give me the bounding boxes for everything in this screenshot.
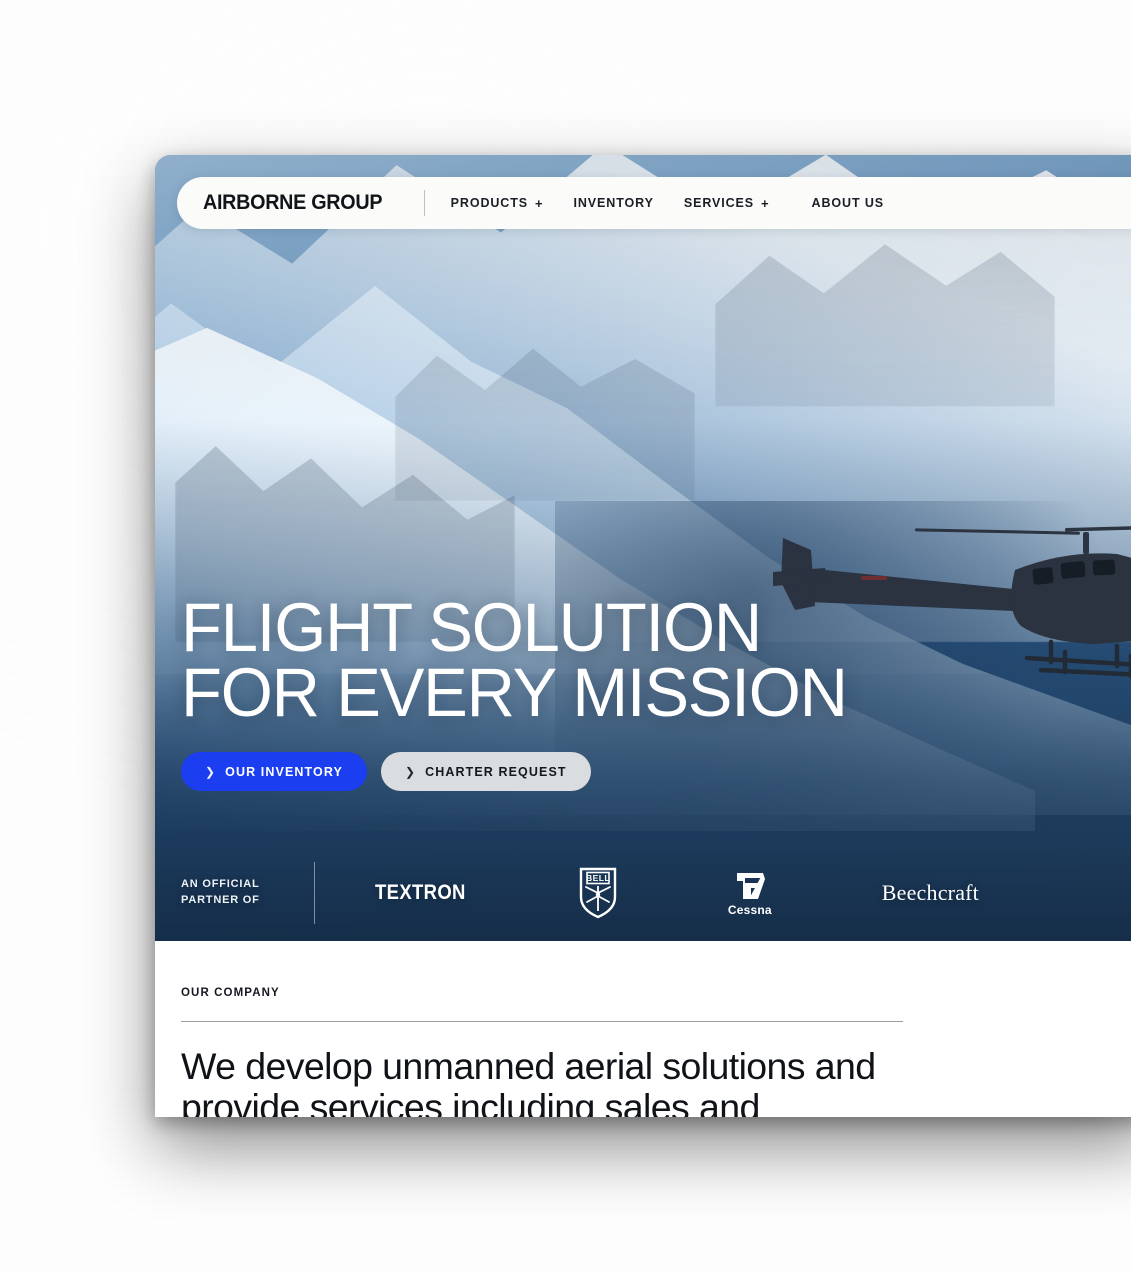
site-navigation-bar: AIRBORNE GROUP PRODUCTS + INVENTORY SERV… [177, 177, 1131, 229]
partner-logo-textron[interactable]: TEXTRON [375, 881, 466, 905]
partner-logo-strip: AN OFFICIAL PARTNER OF TEXTRON BELL [155, 845, 1131, 941]
our-inventory-button-label: OUR INVENTORY [225, 765, 343, 779]
hero-copy-block: FLIGHT SOLUTION FOR EVERY MISSION ❯ OUR … [181, 595, 867, 791]
plus-icon: + [761, 196, 770, 211]
nav-item-services-label: SERVICES [684, 196, 754, 210]
partner-logo-beechcraft[interactable]: Beechcraft [882, 880, 979, 906]
partner-logo-cessna-wordmark: Cessna [728, 903, 772, 917]
nav-item-inventory[interactable]: INVENTORY [574, 196, 654, 210]
hero-section: AIRBORNE GROUP PRODUCTS + INVENTORY SERV… [155, 155, 1131, 941]
website-mockup-frame: AIRBORNE GROUP PRODUCTS + INVENTORY SERV… [155, 155, 1131, 1117]
chevron-right-icon: ❯ [205, 765, 216, 779]
cessna-arrow-icon [731, 869, 769, 901]
charter-request-button[interactable]: ❯ CHARTER REQUEST [381, 752, 591, 791]
hero-headline-line-2: FOR EVERY MISSION [181, 660, 847, 726]
nav-item-services[interactable]: SERVICES + [684, 196, 770, 211]
nav-item-about-us[interactable]: ABOUT US [812, 196, 884, 210]
our-company-section: OUR COMPANY We develop unmanned aerial s… [155, 941, 1131, 1117]
partner-logo-cessna[interactable]: Cessna [728, 869, 772, 917]
nav-item-products-label: PRODUCTS [451, 196, 528, 210]
charter-request-button-label: CHARTER REQUEST [425, 765, 567, 779]
section-kicker-our-company: OUR COMPANY [181, 987, 1129, 999]
section-divider-rule [181, 1021, 903, 1022]
nav-item-about-us-label: ABOUT US [812, 196, 884, 210]
partner-logo-bell[interactable]: BELL [578, 866, 618, 920]
svg-text:BELL: BELL [586, 873, 610, 883]
nav-item-inventory-label: INVENTORY [574, 196, 654, 210]
nav-divider [424, 190, 425, 216]
partner-strip-label: AN OFFICIAL PARTNER OF [181, 877, 260, 909]
nav-link-list: PRODUCTS + INVENTORY SERVICES + ABOUT US [451, 196, 884, 211]
chevron-right-icon: ❯ [405, 765, 416, 779]
brand-logo-airborne-group[interactable]: AIRBORNE GROUP [203, 191, 382, 215]
page-backdrop: AIRBORNE GROUP PRODUCTS + INVENTORY SERV… [0, 0, 1131, 1272]
hero-cta-row: ❯ OUR INVENTORY ❯ CHARTER REQUEST [181, 752, 867, 791]
nav-item-products[interactable]: PRODUCTS + [451, 196, 544, 211]
plus-icon: + [535, 196, 544, 211]
hero-headline-line-1: FLIGHT SOLUTION [181, 595, 847, 661]
company-description-text: We develop unmanned aerial solutions and… [181, 1046, 897, 1117]
partner-logo-list: TEXTRON BELL [315, 866, 1131, 920]
our-inventory-button[interactable]: ❯ OUR INVENTORY [181, 752, 367, 791]
